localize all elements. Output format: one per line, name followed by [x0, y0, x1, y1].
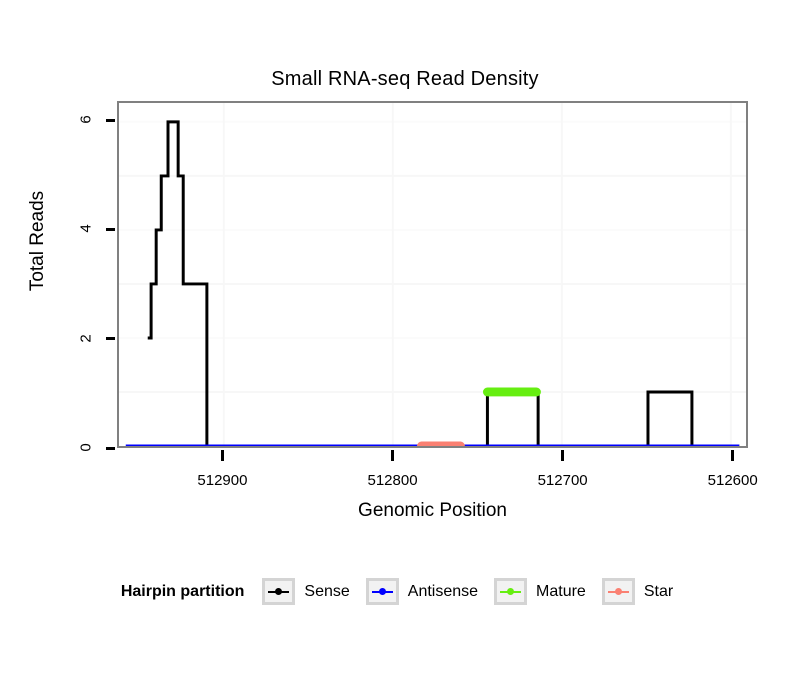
x-tick-label: 512700 — [518, 472, 608, 489]
x-tick-label: 512600 — [688, 472, 778, 489]
legend-entry-star[interactable]: Star — [602, 578, 689, 605]
y-tick-mark — [106, 228, 115, 231]
y-tick-mark — [106, 337, 115, 340]
x-tick-mark — [561, 450, 564, 461]
y-axis-title: Total Reads — [27, 91, 49, 391]
x-tick-label: 512800 — [348, 472, 438, 489]
legend-entry-sense[interactable]: Sense — [262, 578, 365, 605]
legend-key-dot-icon — [507, 588, 514, 595]
y-tick-label: 0 — [78, 435, 95, 461]
x-tick-label: 512900 — [177, 472, 267, 489]
y-tick-mark — [106, 119, 115, 122]
y-tick-label: 6 — [78, 107, 95, 133]
y-tick-label: 2 — [78, 325, 95, 351]
legend-key-antisense — [366, 578, 399, 605]
x-tick-mark — [391, 450, 394, 461]
legend-label: Antisense — [408, 583, 478, 601]
legend-label: Sense — [304, 583, 349, 601]
y-tick-mark — [106, 447, 115, 450]
legend-key-dot-icon — [379, 588, 386, 595]
legend-entry-mature[interactable]: Mature — [494, 578, 602, 605]
legend-key-star — [602, 578, 635, 605]
x-tick-mark — [221, 450, 224, 461]
x-tick-mark — [731, 450, 734, 461]
legend-key-dot-icon — [615, 588, 622, 595]
legend-key-dot-icon — [275, 588, 282, 595]
y-tick-label: 4 — [78, 216, 95, 242]
plot-canvas — [119, 103, 746, 446]
chart-root: Small RNA-seq Read Density Total Reads G… — [0, 0, 810, 690]
legend-label: Star — [644, 583, 673, 601]
chart-title: Small RNA-seq Read Density — [0, 68, 810, 91]
chart-legend: Hairpin partition SenseAntisenseMatureSt… — [0, 578, 810, 605]
legend-key-sense — [262, 578, 295, 605]
plot-panel — [117, 101, 748, 448]
legend-label: Mature — [536, 583, 586, 601]
legend-title: Hairpin partition — [121, 583, 245, 601]
x-axis-title: Genomic Position — [117, 500, 748, 522]
legend-key-mature — [494, 578, 527, 605]
legend-entry-antisense[interactable]: Antisense — [366, 578, 494, 605]
